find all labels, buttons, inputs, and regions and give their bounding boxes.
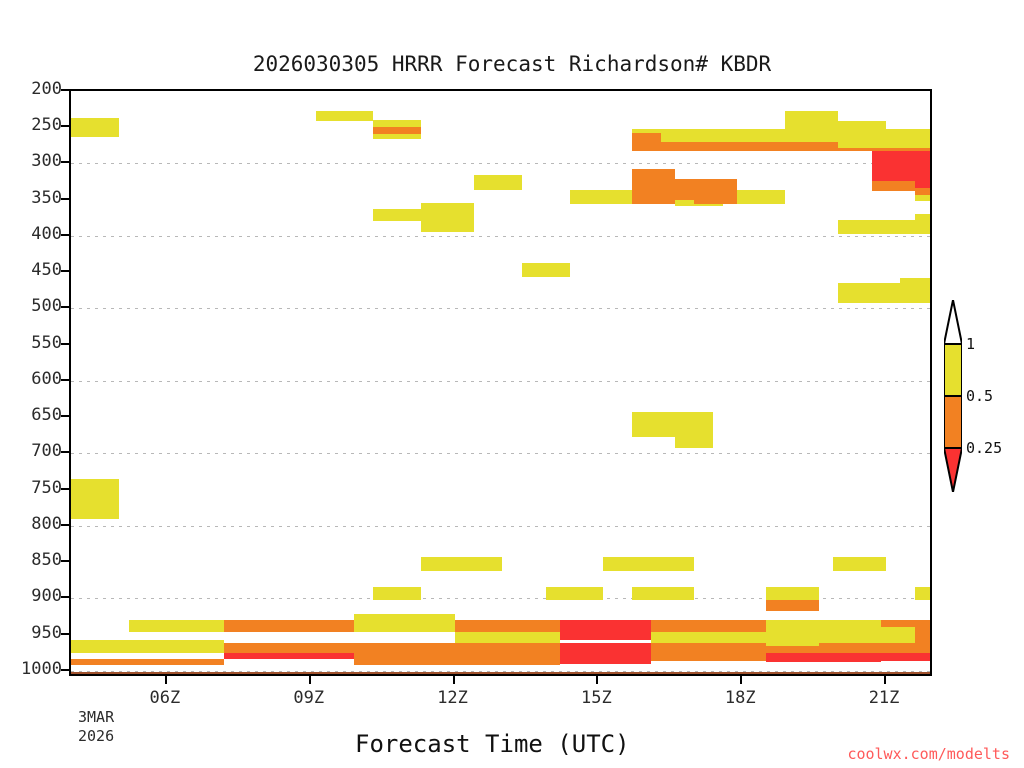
y-tick-label-300: 300 xyxy=(0,151,62,171)
y-tick-label-800: 800 xyxy=(0,514,62,534)
y-tick-label-400: 400 xyxy=(0,224,62,244)
y-tick-700 xyxy=(61,451,69,453)
y-tick-label-750: 750 xyxy=(0,478,62,498)
heatmap-cell xyxy=(785,129,932,142)
heatmap-cell xyxy=(838,283,900,303)
heatmap-cell xyxy=(651,643,766,653)
y-tick-label-650: 650 xyxy=(0,405,62,425)
heatmap-cell xyxy=(632,169,675,180)
heatmap-cell xyxy=(915,195,932,202)
heatmap-cells xyxy=(71,91,930,674)
x-axis-title: Forecast Time (UTC) xyxy=(355,730,630,758)
x-tick-label-09Z: 09Z xyxy=(293,688,324,708)
y-tick-label-1000: 1000 xyxy=(0,659,62,679)
heatmap-cell xyxy=(560,643,651,653)
colorbar-segment-0 xyxy=(944,344,962,396)
y-tick-label-700: 700 xyxy=(0,441,62,461)
y-tick-350 xyxy=(61,198,69,200)
date-line-2: 2026 xyxy=(78,727,114,746)
heatmap-cell xyxy=(766,600,819,611)
heatmap-cell xyxy=(824,627,915,632)
heatmap-cell xyxy=(71,479,119,519)
terrain-band xyxy=(71,672,930,676)
y-tick-300 xyxy=(61,161,69,163)
heatmap-cell xyxy=(373,209,421,221)
heatmap-cell xyxy=(872,151,932,181)
x-tick-label-06Z: 06Z xyxy=(150,688,181,708)
y-tick-1000 xyxy=(61,669,69,671)
x-tick-21Z xyxy=(884,676,886,684)
heatmap-cell xyxy=(838,220,915,234)
date-line-1: 3MAR xyxy=(78,708,114,727)
y-tick-200 xyxy=(61,89,69,91)
heatmap-cell xyxy=(522,263,570,277)
heatmap-cell xyxy=(661,133,786,142)
heatmap-cell xyxy=(455,620,560,632)
heatmap-cell xyxy=(560,653,651,663)
heatmap-cell xyxy=(651,653,766,660)
x-tick-18Z xyxy=(740,676,742,684)
y-tick-label-350: 350 xyxy=(0,188,62,208)
chart-title: 2026030305 HRRR Forecast Richardson# KBD… xyxy=(0,52,1024,76)
x-tick-12Z xyxy=(453,676,455,684)
heatmap-cell xyxy=(675,437,713,447)
heatmap-cell xyxy=(651,620,766,632)
forecast-richardson-chart: 2026030305 HRRR Forecast Richardson# KBD… xyxy=(0,0,1024,768)
heatmap-cell xyxy=(224,653,353,659)
heatmap-cell xyxy=(833,557,886,571)
y-tick-750 xyxy=(61,488,69,490)
y-tick-label-250: 250 xyxy=(0,115,62,135)
y-tick-label-200: 200 xyxy=(0,79,62,99)
y-tick-400 xyxy=(61,234,69,236)
heatmap-cell xyxy=(224,620,353,632)
y-tick-800 xyxy=(61,524,69,526)
date-label: 3MAR 2026 xyxy=(78,708,114,746)
heatmap-cell xyxy=(421,557,503,571)
y-tick-650 xyxy=(61,415,69,417)
heatmap-cell xyxy=(900,278,932,303)
heatmap-cell xyxy=(872,181,915,191)
y-tick-950 xyxy=(61,633,69,635)
colorbar-tick-label-0: 1 xyxy=(966,335,975,353)
heatmap-cell xyxy=(71,118,119,137)
heatmap-cell xyxy=(766,653,881,662)
heatmap-cell xyxy=(316,111,374,122)
heatmap-cell xyxy=(737,190,785,204)
colorbar-tick-label-2: 0.25 xyxy=(966,439,1002,457)
heatmap-cell xyxy=(224,643,353,653)
heatmap-cell xyxy=(71,640,129,653)
watermark: coolwx.com/modelts xyxy=(847,745,1010,763)
heatmap-cell xyxy=(474,175,522,189)
y-tick-600 xyxy=(61,379,69,381)
colorbar-segment-1 xyxy=(944,396,962,448)
x-tick-label-18Z: 18Z xyxy=(725,688,756,708)
heatmap-cell xyxy=(915,587,932,600)
heatmap-cell xyxy=(129,640,225,653)
heatmap-cell xyxy=(373,127,421,134)
plot-area xyxy=(69,89,932,676)
x-tick-label-12Z: 12Z xyxy=(437,688,468,708)
colorbar-bottom-cap xyxy=(944,448,962,492)
heatmap-cell xyxy=(766,640,819,646)
heatmap-cell xyxy=(915,188,932,195)
heatmap-cell xyxy=(129,620,225,632)
heatmap-cell xyxy=(632,133,661,142)
heatmap-cell xyxy=(373,587,421,600)
heatmap-cell xyxy=(632,587,694,600)
y-tick-label-900: 900 xyxy=(0,586,62,606)
heatmap-cell xyxy=(603,557,694,571)
colorbar-top-cap-outline xyxy=(944,300,962,344)
heatmap-cell xyxy=(560,620,651,632)
heatmap-cell xyxy=(354,659,560,665)
colorbar: 10.50.25 xyxy=(944,300,962,452)
y-tick-label-850: 850 xyxy=(0,550,62,570)
heatmap-cell xyxy=(785,111,838,128)
y-tick-label-500: 500 xyxy=(0,296,62,316)
y-tick-500 xyxy=(61,306,69,308)
heatmap-cell xyxy=(455,632,560,643)
heatmap-cell xyxy=(354,614,455,632)
heatmap-cell xyxy=(915,181,932,188)
y-tick-450 xyxy=(61,270,69,272)
heatmap-cell xyxy=(838,121,886,128)
heatmap-cell xyxy=(546,587,604,600)
heatmap-cell xyxy=(651,632,766,643)
y-tick-250 xyxy=(61,125,69,127)
heatmap-cell xyxy=(71,659,224,665)
heatmap-cell xyxy=(881,653,932,660)
heatmap-cell xyxy=(354,643,455,653)
heatmap-cell xyxy=(373,134,421,139)
y-tick-900 xyxy=(61,596,69,598)
heatmap-cell xyxy=(632,412,714,437)
heatmap-cell xyxy=(570,190,632,204)
heatmap-cell xyxy=(766,587,819,600)
y-tick-label-450: 450 xyxy=(0,260,62,280)
heatmap-cell xyxy=(421,203,474,232)
y-tick-label-600: 600 xyxy=(0,369,62,389)
heatmap-cell xyxy=(915,214,932,234)
x-tick-15Z xyxy=(596,676,598,684)
y-tick-label-550: 550 xyxy=(0,333,62,353)
x-tick-06Z xyxy=(165,676,167,684)
x-tick-09Z xyxy=(309,676,311,684)
heatmap-cell xyxy=(886,643,932,653)
heatmap-cell xyxy=(632,129,785,133)
y-tick-850 xyxy=(61,560,69,562)
x-tick-label-15Z: 15Z xyxy=(581,688,612,708)
y-tick-label-950: 950 xyxy=(0,623,62,643)
y-tick-550 xyxy=(61,343,69,345)
heatmap-cell xyxy=(694,179,737,204)
heatmap-cell xyxy=(455,643,560,653)
x-tick-label-21Z: 21Z xyxy=(869,688,900,708)
heatmap-cell xyxy=(560,632,651,639)
heatmap-cell xyxy=(915,632,932,643)
colorbar-tick-label-1: 0.5 xyxy=(966,387,993,405)
